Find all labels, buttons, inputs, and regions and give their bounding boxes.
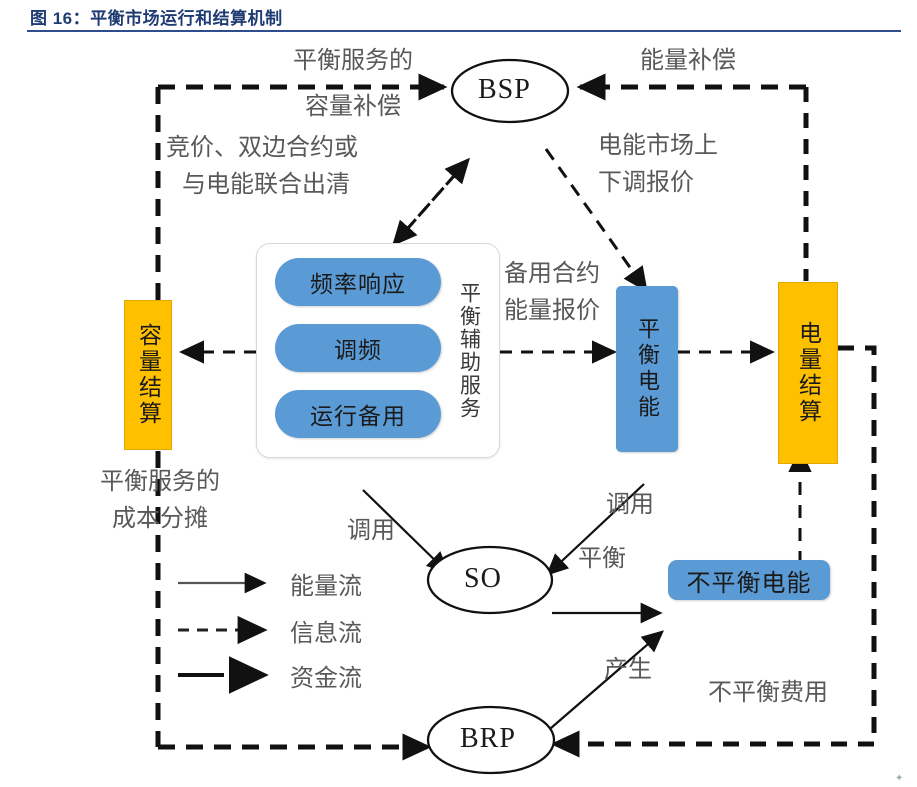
card-side-label: 平衡辅助服务 bbox=[459, 282, 480, 420]
pill-frequency-response-label: 频率响应 bbox=[310, 265, 406, 299]
edge-label-dispatch-right: 调用 bbox=[606, 492, 654, 519]
page-title: 图 16：平衡市场运行和结算机制 bbox=[30, 4, 283, 29]
pill-frequency-response[interactable]: 频率响应 bbox=[275, 258, 441, 306]
edge-label-market-updown-line2: 下调报价 bbox=[598, 170, 694, 197]
edge-label-dispatch-left: 调用 bbox=[347, 518, 395, 545]
figure-title-bar: 图 16：平衡市场运行和结算机制 bbox=[0, 0, 917, 36]
box-balancing-energy-label: 平衡电能 bbox=[636, 317, 658, 421]
node-so-label: SO bbox=[464, 563, 502, 595]
figure-page: 图 16：平衡市场运行和结算机制 bbox=[0, 0, 917, 787]
edge-label-bid-bilateral-line2: 与电能联合出清 bbox=[182, 172, 350, 199]
edge-label-produce: 产生 bbox=[604, 657, 652, 684]
edge-label-energy-compensation: 能量补偿 bbox=[640, 48, 736, 75]
edge-label-cost-allocation-line2: 成本分摊 bbox=[112, 506, 208, 533]
box-capacity-settlement-label: 容量结算 bbox=[137, 323, 160, 427]
pill-operating-reserve-label: 运行备用 bbox=[310, 397, 406, 431]
edge-label-capacity-compensation-line1: 平衡服务的 bbox=[258, 48, 448, 75]
legend-item-energy-flow: 能量流 bbox=[290, 566, 362, 601]
box-energy-settlement[interactable]: 电量结算 bbox=[778, 282, 838, 464]
box-capacity-settlement[interactable]: 容量结算 bbox=[124, 300, 172, 450]
edge-label-market-updown-line1: 电能市场上 bbox=[598, 133, 718, 160]
pill-operating-reserve[interactable]: 运行备用 bbox=[275, 390, 441, 438]
edge-label-reserve-contract-line2: 能量报价 bbox=[504, 298, 600, 325]
edge-label-bid-bilateral-line1: 竞价、双边合约或 bbox=[166, 135, 358, 162]
pill-frequency-regulation-label: 调频 bbox=[334, 331, 382, 365]
pill-frequency-regulation[interactable]: 调频 bbox=[275, 324, 441, 372]
edge-label-cost-allocation-line1: 平衡服务的 bbox=[100, 469, 220, 496]
card-balancing-ancillary-services: 频率响应 调频 运行备用 平衡辅助服务 bbox=[256, 243, 500, 458]
edge-label-balance: 平衡 bbox=[578, 546, 626, 573]
box-imbalance-energy-label: 不平衡电能 bbox=[687, 563, 812, 598]
node-brp-label: BRP bbox=[460, 723, 516, 755]
legend-item-information-flow: 信息流 bbox=[290, 613, 362, 648]
legend-item-money-flow: 资金流 bbox=[290, 658, 362, 693]
node-bsp-label: BSP bbox=[478, 74, 531, 106]
page-artifact-mark: ✦ bbox=[895, 773, 901, 779]
card-side-label-wrap: 平衡辅助服务 bbox=[449, 256, 489, 446]
edge-label-imbalance-fee: 不平衡费用 bbox=[708, 680, 828, 707]
box-balancing-energy[interactable]: 平衡电能 bbox=[616, 286, 678, 452]
box-energy-settlement-label: 电量结算 bbox=[797, 321, 820, 425]
edge-label-reserve-contract-line1: 备用合约 bbox=[504, 261, 600, 288]
box-imbalance-energy[interactable]: 不平衡电能 bbox=[668, 560, 830, 600]
edge-label-capacity-compensation-line2: 容量补偿 bbox=[258, 94, 448, 121]
energy-brp-to-imbalance bbox=[536, 632, 662, 741]
